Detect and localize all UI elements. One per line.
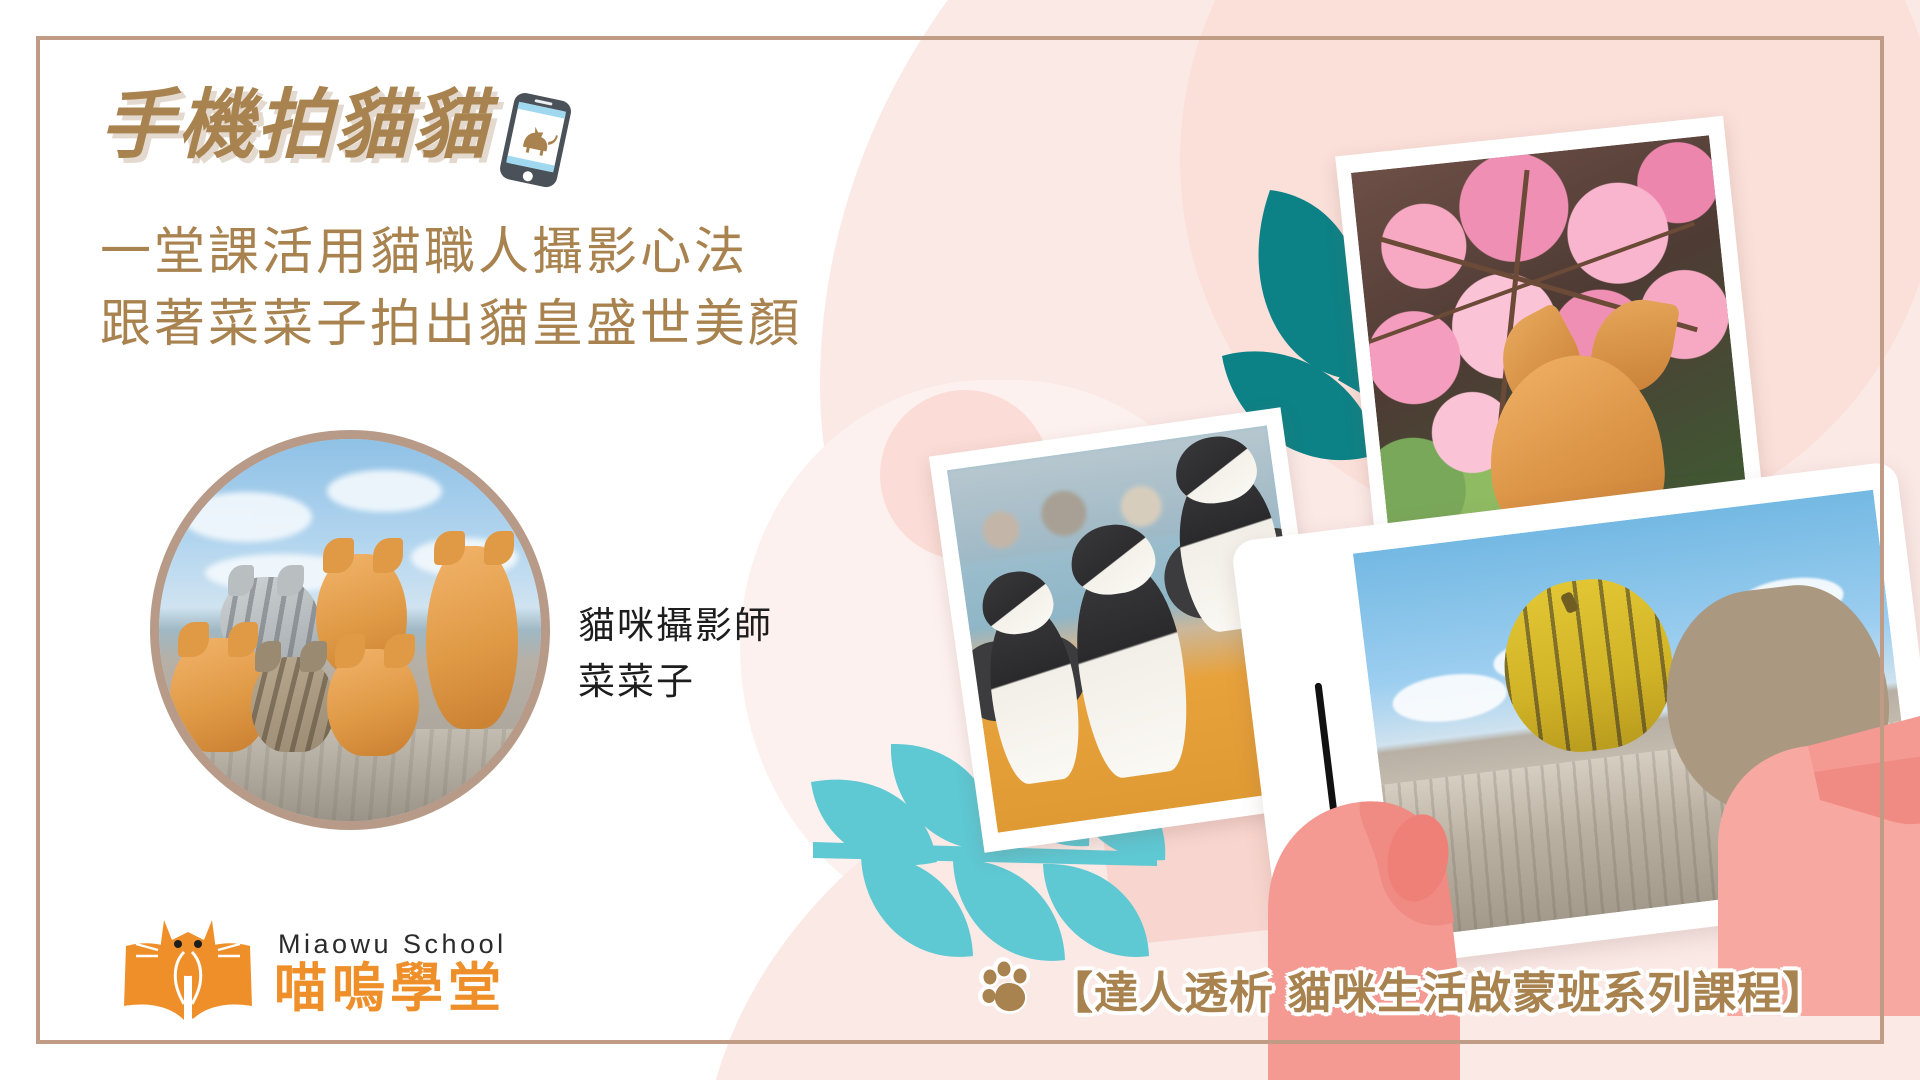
instructor-portrait [150,430,550,830]
instructor-role: 貓咪攝影師 [578,598,773,654]
portrait-photo-five-cats [159,439,541,821]
brand-logo[interactable]: Miaowu School 喵嗚學堂 [118,910,507,1033]
paw-print-icon [975,955,1037,1022]
left-content-column: 手機拍貓貓 一堂課活用貓職人攝影心法 跟著菜菜子拍出貓皇盛世美顏 [0,0,900,1080]
photo-sakura-cat [1351,135,1747,537]
subtitle-block: 一堂課活用貓職人攝影心法 跟著菜菜子拍出貓皇盛世美顏 [100,216,802,361]
smartphone-with-cat-icon [495,89,576,197]
instructor-name: 菜菜子 [578,654,773,710]
course-series-label: 【達人透析 貓咪生活啟蒙班系列課程】 [1049,957,1827,1021]
poster-canvas: 手機拍貓貓 一堂課活用貓職人攝影心法 跟著菜菜子拍出貓皇盛世美顏 [0,0,1920,1080]
instructor-credit: 貓咪攝影師 菜菜子 [578,598,773,709]
logo-text-block: Miaowu School 喵嗚學堂 [274,929,507,1015]
subtitle-line-2: 跟著菜菜子拍出貓皇盛世美顏 [100,288,802,360]
subtitle-line-1: 一堂課活用貓職人攝影心法 [100,216,802,288]
course-series-banner: 【達人透析 貓咪生活啟蒙班系列課程】 [975,955,1827,1022]
page-title: 手機拍貓貓 [100,88,490,164]
portrait-ring [150,430,550,830]
logo-english-name: Miaowu School [278,929,507,960]
title-row: 手機拍貓貓 [100,88,566,191]
open-book-with-cat-face-icon [118,910,258,1033]
logo-chinese-name: 喵嗚學堂 [274,962,507,1015]
